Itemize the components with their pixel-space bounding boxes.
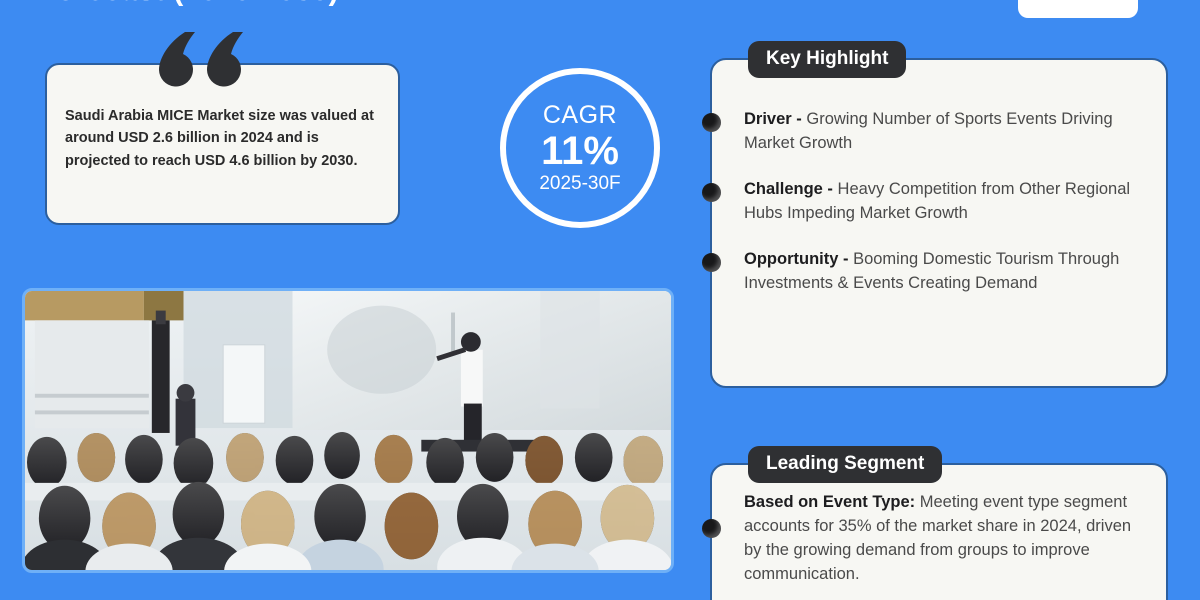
cagr-label: CAGR — [543, 102, 617, 128]
page-title: Forecast (2025-2030) — [38, 0, 339, 8]
market-size-card: Saudi Arabia MICE Market size was valued… — [45, 63, 400, 225]
key-highlight-badge: Key Highlight — [748, 41, 906, 78]
list-item-label: Opportunity - — [744, 250, 848, 268]
bullet-dot-icon — [702, 183, 721, 202]
list-item-text: Challenge - Heavy Competition from Other… — [744, 178, 1148, 226]
market-size-text: Saudi Arabia MICE Market size was valued… — [65, 105, 382, 172]
list-item-label: Driver - — [744, 110, 802, 128]
conference-audience-photo — [22, 288, 674, 573]
list-item-label: Challenge - — [744, 180, 833, 198]
cagr-circle: CAGR 11% 2025-30F — [500, 68, 660, 228]
list-item-text: Opportunity - Booming Domestic Tourism T… — [744, 248, 1148, 296]
list-item-text: Based on Event Type: Meeting event type … — [744, 491, 1148, 587]
bullet-dot-icon — [702, 253, 721, 272]
bullet-dot-icon — [702, 519, 721, 538]
leading-segment-list: Based on Event Type: Meeting event type … — [744, 491, 1148, 587]
list-item-label: Based on Event Type: — [744, 493, 915, 511]
list-item: Driver - Growing Number of Sports Events… — [744, 108, 1148, 156]
list-item: Opportunity - Booming Domestic Tourism T… — [744, 248, 1148, 296]
cagr-range: 2025-30F — [539, 174, 620, 194]
logo-plate — [1018, 0, 1138, 18]
bullet-dot-icon — [702, 113, 721, 132]
leading-segment-panel: Leading Segment Based on Event Type: Mee… — [710, 463, 1168, 600]
key-highlight-panel: Key Highlight Driver - Growing Number of… — [710, 58, 1168, 388]
leading-segment-badge: Leading Segment — [748, 446, 942, 483]
list-item: Based on Event Type: Meeting event type … — [744, 491, 1148, 587]
key-highlight-list: Driver - Growing Number of Sports Events… — [744, 108, 1148, 318]
cagr-value: 11% — [541, 129, 619, 173]
list-item-text: Driver - Growing Number of Sports Events… — [744, 108, 1148, 156]
list-item: Challenge - Heavy Competition from Other… — [744, 178, 1148, 226]
